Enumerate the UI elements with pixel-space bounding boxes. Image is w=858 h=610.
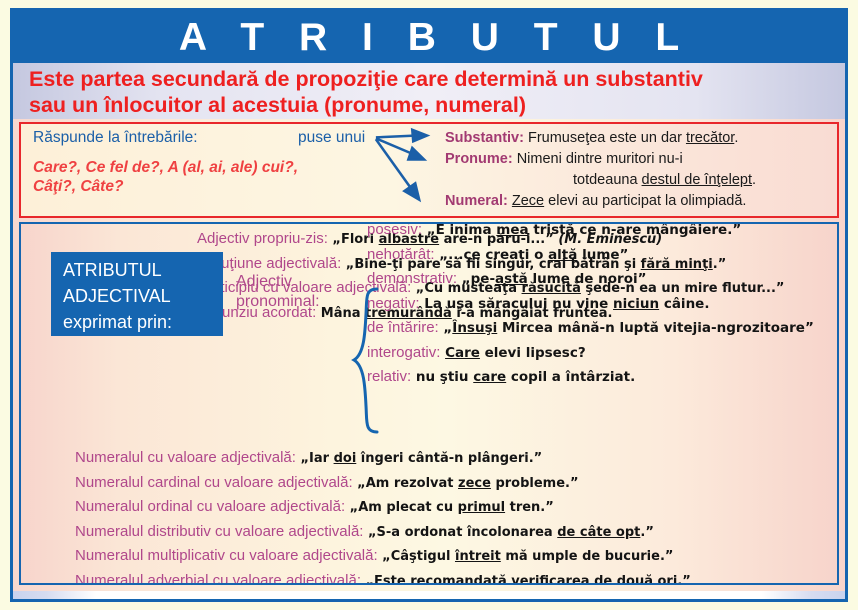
example-row-substantiv: Substantiv: Frumuseţea este un dar trecă… — [445, 128, 756, 149]
tag-line-1: ATRIBUTUL — [63, 257, 223, 283]
example-underline-numeral: Zece — [512, 193, 544, 209]
pronominal-label-4: de întărire: — [367, 319, 439, 336]
numeral-post-4: mă umple de bucurie.” — [501, 549, 674, 564]
example-label-substantiv: Substantiv: — [445, 130, 524, 146]
numeral-post-3: .” — [640, 525, 653, 540]
numeral-post-0: îngeri cântă-n plângeri.” — [356, 451, 542, 466]
numeral-line: Numeralul ordinal cu valoare adjectivală… — [75, 495, 691, 520]
numeral-label-4: Numeralul multiplicativ cu valoare adjec… — [75, 547, 378, 564]
example-text-pronume-cont-post: . — [752, 172, 756, 188]
pronominal-label-3: negativ: — [367, 295, 420, 312]
example-label-pronume: Pronume: — [445, 151, 513, 167]
numeral-underline-5: de două ori — [594, 574, 677, 586]
numeral-example-1: „Am rezolvat zece probleme.” — [353, 476, 579, 491]
pronominal-list: posesiv: „E inima mea tristă ce n-are mâ… — [367, 222, 814, 390]
pronominal-label-line-2: pronominal: — [236, 292, 320, 312]
example-text-pronume-cont-pre: totdeauna — [573, 172, 642, 188]
questions-list-line-2: Câţi?, Câte? — [33, 177, 298, 196]
example-row-numeral: Numeral: Zece elevi au participat la oli… — [445, 191, 756, 212]
numeral-label-5: Numeralul adverbial cu valoare adjectiva… — [75, 572, 361, 586]
header-subtitle-bar: Este partea secundară de propoziţie care… — [13, 63, 845, 119]
numeral-post-1: probleme.” — [491, 476, 579, 491]
numeral-underline-0: doi — [334, 451, 357, 466]
questions-section: Răspunde la întrebările: Care?, Ce fel d… — [13, 119, 845, 218]
pronominal-post-1: lume” — [577, 247, 628, 263]
questions-left-column: Răspunde la întrebările: Care?, Ce fel d… — [33, 129, 298, 196]
pronominal-example-6: nu ştiu care copil a întârziat. — [411, 369, 635, 385]
numeral-line: Numeralul distributiv cu valoare adjecti… — [75, 520, 691, 545]
numeral-pre-1: „Am rezolvat — [353, 476, 458, 491]
main-section: Adjectiv propriu-zis: „Flori albastre ar… — [13, 218, 845, 591]
example-label-numeral: Numeral: — [445, 193, 508, 209]
pronominal-underline-0: mea — [496, 222, 528, 238]
numeral-post-5: .” — [677, 574, 690, 586]
example-text-numeral-post: elevi au participat la olimpiadă. — [544, 193, 746, 209]
pronominal-post-5: elevi lipsesc? — [480, 345, 586, 361]
numeral-line: Numeralul cu valoare adjectivală: „Iar d… — [75, 446, 691, 471]
example-text-pronume-pre: Nimeni dintre muritori nu-i — [513, 151, 683, 167]
pronominal-label-0: posesiv: — [367, 222, 422, 238]
pronominal-underline-1: altă — [548, 247, 577, 263]
pronominal-underline-4: Însuşi — [452, 320, 497, 336]
pronominal-post-3: câine. — [659, 296, 709, 312]
pronominal-underline-5: Care — [445, 345, 480, 361]
pronominal-label-6: relativ: — [367, 368, 411, 385]
page-title: A T R I B U T U L — [167, 18, 691, 57]
pronominal-post-4: Mircea mână-n luptă vitejia-ngrozitoare” — [497, 320, 814, 336]
numeral-label-0: Numeralul cu valoare adjectivală: — [75, 449, 296, 466]
pronominal-example-2: „pe-astă lume de noroi” — [457, 271, 646, 287]
tag-line-3: exprimat prin: — [63, 309, 223, 335]
numeral-line: Numeralul cardinal cu valoare adjectival… — [75, 471, 691, 496]
numeral-underline-2: primul — [458, 500, 505, 515]
pronominal-example-4: „Însuşi Mircea mână-n luptă vitejia-ngro… — [439, 320, 814, 336]
example-row-pronume: Pronume: Nimeni dintre muritori nu-i — [445, 149, 756, 170]
numeral-example-4: „Câştigul întreit mă umple de bucurie.” — [378, 549, 674, 564]
pronominal-label: Adjectiv pronominal: — [236, 272, 320, 312]
attribute-adjectival-tag: ATRIBUTUL ADJECTIVAL exprimat prin: — [51, 252, 223, 336]
numeral-line: Numeralul multiplicativ cu valoare adjec… — [75, 544, 691, 569]
pronominal-post-0: tristă ce n-are mângâiere.” — [529, 222, 742, 238]
example-underline-substantiv: trecător — [686, 130, 734, 146]
pronominal-example-3: La uşa săracului nu vine niciun câine. — [420, 296, 710, 312]
numeral-label-2: Numeralul ordinal cu valoare adjectivală… — [75, 498, 345, 515]
tag-line-2: ADJECTIVAL — [63, 283, 223, 309]
subtitle-line-2: sau un înlocuitor al acestuia (pronume, … — [29, 92, 829, 118]
pronominal-pre-4: „ — [439, 320, 453, 336]
pronominal-label-line-1: Adjectiv — [236, 272, 320, 292]
pronominal-post-2: lume de noroi” — [528, 271, 647, 287]
pronominal-item: posesiv: „E inima mea tristă ce n-are mâ… — [367, 222, 814, 243]
numeral-pre-4: „Câştigul — [378, 549, 455, 564]
header-title-bar: A T R I B U T U L — [13, 11, 845, 63]
pronominal-label-5: interogativ: — [367, 344, 440, 361]
pronominal-underline-6: care — [473, 369, 506, 385]
pronominal-item: nehotărât: „...ce creaţi o altă lume” — [367, 243, 814, 268]
pronominal-label-1: nehotărât: — [367, 246, 435, 263]
pronominal-item: negativ: La uşa săracului nu vine niciun… — [367, 292, 814, 317]
pronominal-pre-0: „E inima — [422, 222, 496, 238]
example-text-substantiv-pre: Frumuseţea este un dar — [524, 130, 686, 146]
pronominal-example-5: Care elevi lipsesc? — [440, 345, 585, 361]
numeral-pre-3: „S-a ordonat încolonarea — [363, 525, 557, 540]
puse-unui-label: puse unui — [298, 129, 365, 147]
subtitle-line-1: Este partea secundară de propoziţie care… — [29, 66, 829, 92]
numeral-underline-3: de câte opt — [557, 525, 640, 540]
main-box: Adjectiv propriu-zis: „Flori albastre ar… — [19, 222, 839, 585]
numeral-example-2: „Am plecat cu primul tren.” — [345, 500, 554, 515]
pronominal-pre-2: „pe- — [457, 271, 495, 287]
pronominal-pre-6: nu ştiu — [411, 369, 473, 385]
pronominal-item: relativ: nu ştiu care copil a întârziat. — [367, 365, 814, 390]
pronominal-item: interogativ: Care elevi lipsesc? — [367, 341, 814, 366]
numeral-lines-group: Numeralul cu valoare adjectivală: „Iar d… — [75, 446, 691, 585]
numeral-line: Numeralul adverbial cu valoare adjectiva… — [75, 569, 691, 586]
pronominal-example-0: „E inima mea tristă ce n-are mângâiere.” — [422, 222, 741, 238]
numeral-example-3: „S-a ordonat încolonarea de câte opt.” — [363, 525, 653, 540]
pronominal-underline-2: astă — [495, 271, 528, 287]
numeral-label-3: Numeralul distributiv cu valoare adjecti… — [75, 523, 363, 540]
pronominal-item: de întărire: „Însuşi Mircea mână-n luptă… — [367, 316, 814, 341]
example-text-substantiv-post: . — [734, 130, 738, 146]
examples-column: Substantiv: Frumuseţea este un dar trecă… — [445, 128, 756, 212]
numeral-pre-0: „Iar — [296, 451, 334, 466]
pronominal-pre-3: La uşa săracului nu vine — [420, 296, 613, 312]
numeral-pre-2: „Am plecat cu — [345, 500, 458, 515]
example-underline-pronume: destul de înţelept — [642, 172, 752, 188]
example-row-pronume-cont: totdeauna destul de înţelept. — [445, 170, 756, 191]
numeral-underline-4: întreit — [455, 549, 501, 564]
pronominal-item: demonstrativ: „pe-astă lume de noroi” — [367, 267, 814, 292]
numeral-example-0: „Iar doi îngeri cântă-n plângeri.” — [296, 451, 542, 466]
questions-box: Răspunde la întrebările: Care?, Ce fel d… — [19, 122, 839, 218]
pronominal-example-1: „...ce creaţi o altă lume” — [435, 247, 629, 263]
numeral-label-1: Numeralul cardinal cu valoare adjectival… — [75, 474, 353, 491]
numeral-pre-5: „Este recomandată verificarea — [361, 574, 594, 586]
questions-list: Care?, Ce fel de?, A (al, ai, ale) cui?,… — [33, 158, 298, 196]
numeral-underline-1: zece — [458, 476, 491, 491]
numeral-post-2: tren.” — [505, 500, 554, 515]
pronominal-label-2: demonstrativ: — [367, 270, 457, 287]
questions-heading: Răspunde la întrebările: — [33, 129, 298, 147]
pronominal-underline-3: niciun — [613, 296, 659, 312]
questions-list-line-1: Care?, Ce fel de?, A (al, ai, ale) cui?, — [33, 158, 298, 177]
adjective-label-0: Adjectiv propriu-zis: — [197, 230, 328, 247]
poster-root: A T R I B U T U L Este partea secundară … — [0, 0, 858, 610]
poster-frame: A T R I B U T U L Este partea secundară … — [10, 8, 848, 602]
pronominal-pre-1: „...ce creaţi o — [435, 247, 549, 263]
pronominal-post-6: copil a întârziat. — [506, 369, 635, 385]
numeral-example-5: „Este recomandată verificarea de două or… — [361, 574, 691, 586]
